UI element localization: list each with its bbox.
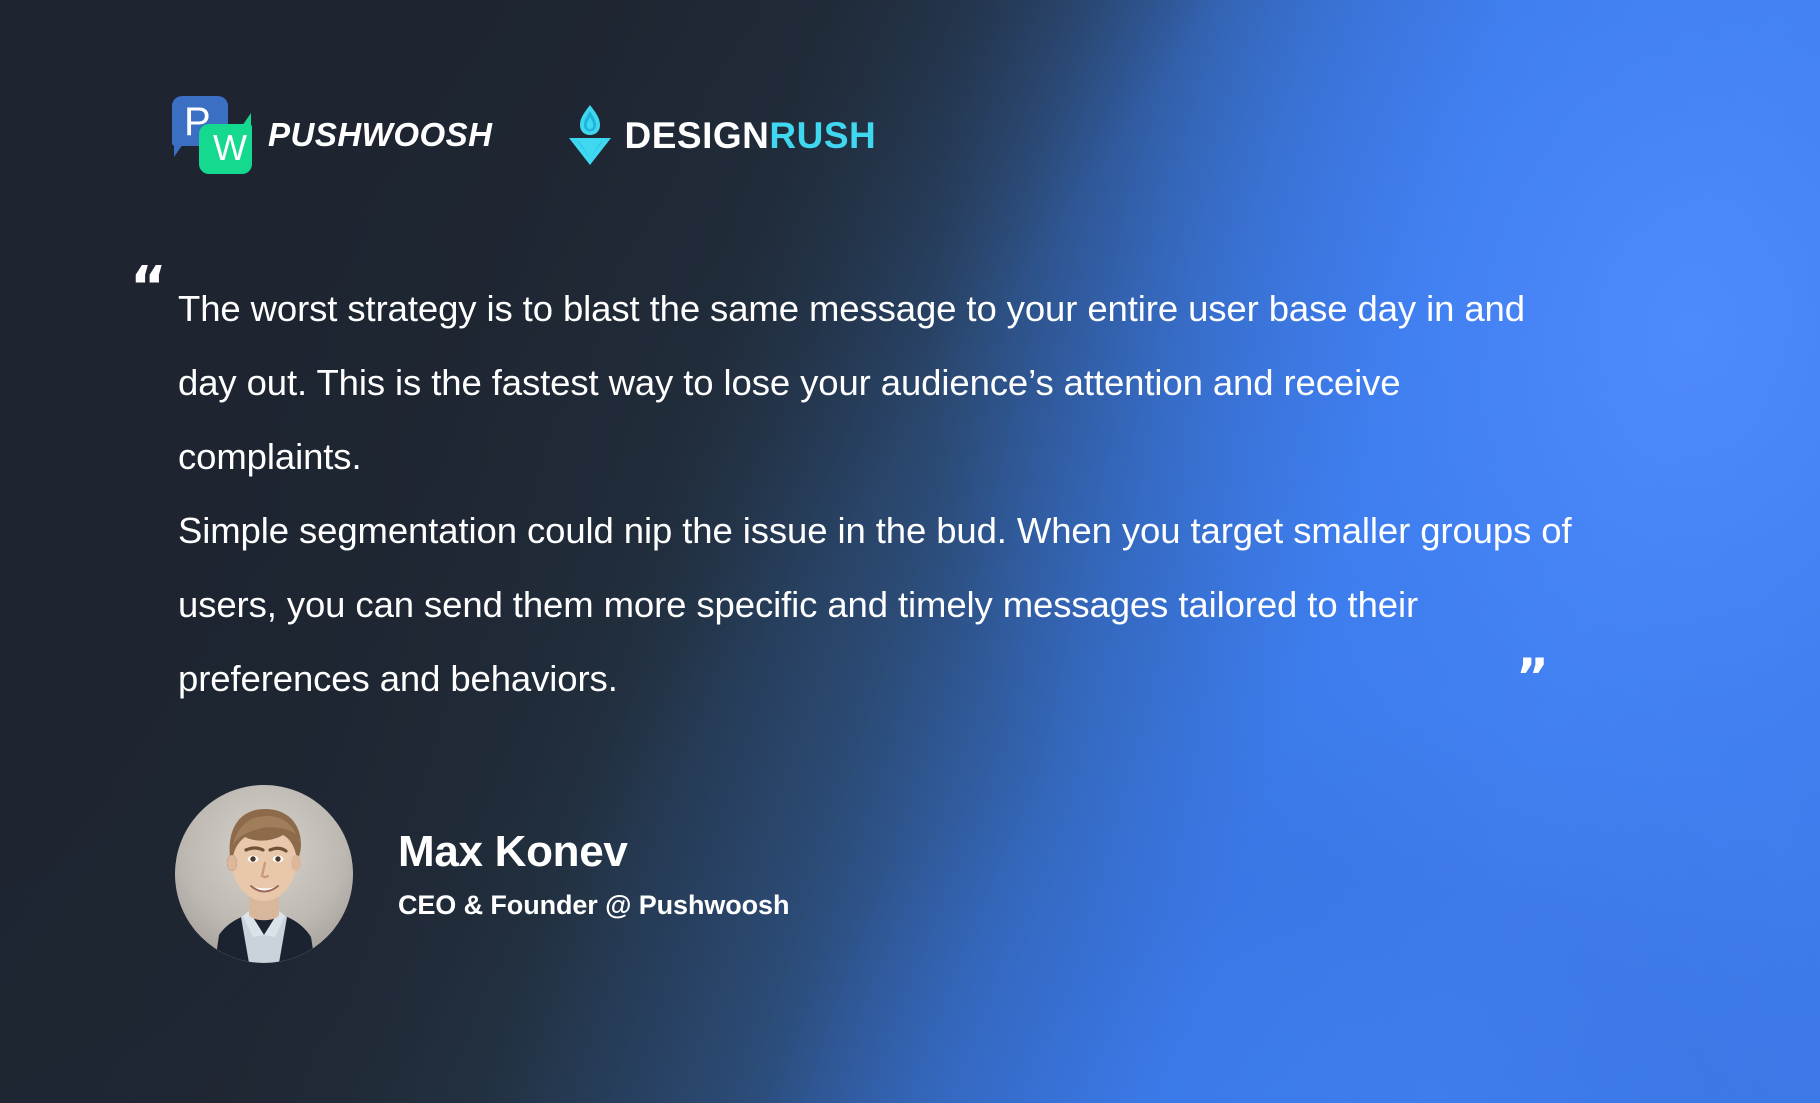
avatar: [175, 785, 353, 963]
quote-text: The worst strategy is to blast the same …: [178, 272, 1578, 716]
closing-quote-mark: ”: [1516, 652, 1549, 702]
quote-card: P W PUSHWOOSH DESIGNRUSH: [0, 0, 1820, 1103]
pushwoosh-letter-p: P: [184, 102, 211, 142]
author-block: Max Konev CEO & Founder @ Pushwoosh: [175, 785, 789, 963]
designrush-wordmark-design: DESIGN: [625, 115, 770, 156]
pushwoosh-wordmark: PUSHWOOSH: [268, 116, 493, 154]
designrush-flame-icon: [567, 104, 613, 166]
designrush-logo: DESIGNRUSH: [567, 104, 877, 166]
quote-block: “ The worst strategy is to blast the sam…: [178, 272, 1578, 716]
card-content: P W PUSHWOOSH DESIGNRUSH: [0, 0, 1820, 1103]
pushwoosh-letter-w: W: [213, 130, 247, 166]
designrush-wordmark-rush: RUSH: [769, 115, 876, 156]
pushwoosh-logo-icon: P W: [172, 96, 252, 174]
author-name: Max Konev: [398, 827, 789, 878]
author-role: CEO & Founder @ Pushwoosh: [398, 890, 789, 921]
opening-quote-mark: “: [130, 260, 167, 316]
designrush-wordmark: DESIGNRUSH: [625, 117, 877, 154]
author-text: Max Konev CEO & Founder @ Pushwoosh: [398, 827, 789, 921]
logo-row: P W PUSHWOOSH DESIGNRUSH: [172, 96, 876, 174]
